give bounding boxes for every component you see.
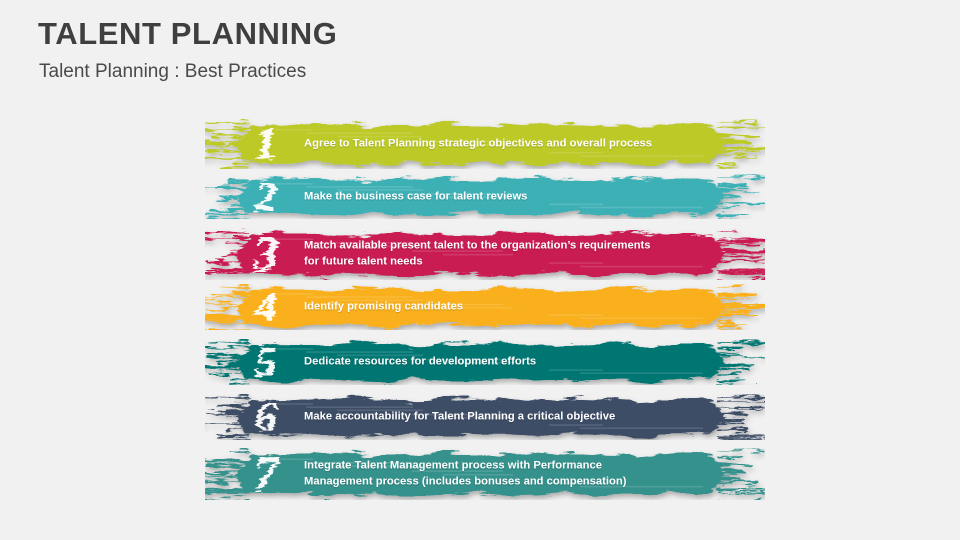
brush-stroke-shape — [205, 394, 765, 440]
step-bar-2[interactable]: 2Make the business case for talent revie… — [205, 174, 765, 219]
brush-stroke-shape — [205, 448, 765, 500]
step-bar-1[interactable]: 1Agree to Talent Planning strategic obje… — [205, 119, 765, 169]
step-bar-6[interactable]: 6Make accountability for Talent Planning… — [205, 394, 765, 440]
slide-canvas: TALENT PLANNING Talent Planning : Best P… — [0, 0, 960, 540]
brush-stroke-shape — [205, 339, 765, 385]
brush-stroke-shape — [205, 174, 765, 219]
steps-list: 1Agree to Talent Planning strategic obje… — [0, 0, 960, 540]
step-bar-5[interactable]: 5Dedicate resources for development effo… — [205, 339, 765, 385]
step-bar-4[interactable]: 4Identify promising candidates — [205, 284, 765, 330]
step-bar-7[interactable]: 7Integrate Talent Management process wit… — [205, 448, 765, 500]
brush-stroke-shape — [205, 119, 765, 169]
step-bar-3[interactable]: 3Match available present talent to the o… — [205, 228, 765, 280]
brush-stroke-shape — [205, 228, 765, 280]
brush-stroke-shape — [205, 284, 765, 330]
